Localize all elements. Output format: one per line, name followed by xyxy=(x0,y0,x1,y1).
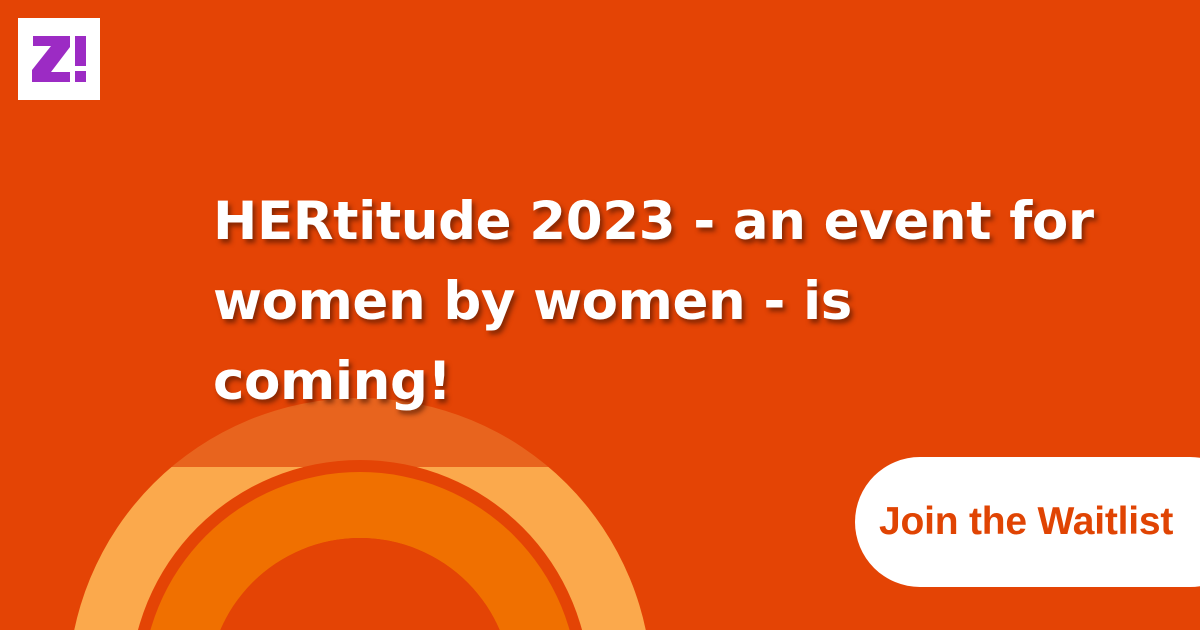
headline-line-3: coming! xyxy=(213,342,1013,422)
z-exclamation-icon xyxy=(30,34,88,84)
promo-banner: HERtitude 2023 - an event for women by w… xyxy=(0,0,1200,630)
join-waitlist-label: Join the Waitlist xyxy=(879,500,1173,544)
join-waitlist-button[interactable]: Join the Waitlist xyxy=(855,457,1200,587)
brand-logo[interactable] xyxy=(18,18,100,100)
headline-line-1: HERtitude 2023 - an event for xyxy=(213,182,1013,262)
headline: HERtitude 2023 - an event for women by w… xyxy=(213,182,1013,422)
headline-line-2: women by women - is xyxy=(213,262,1013,342)
arc-core xyxy=(208,538,512,630)
